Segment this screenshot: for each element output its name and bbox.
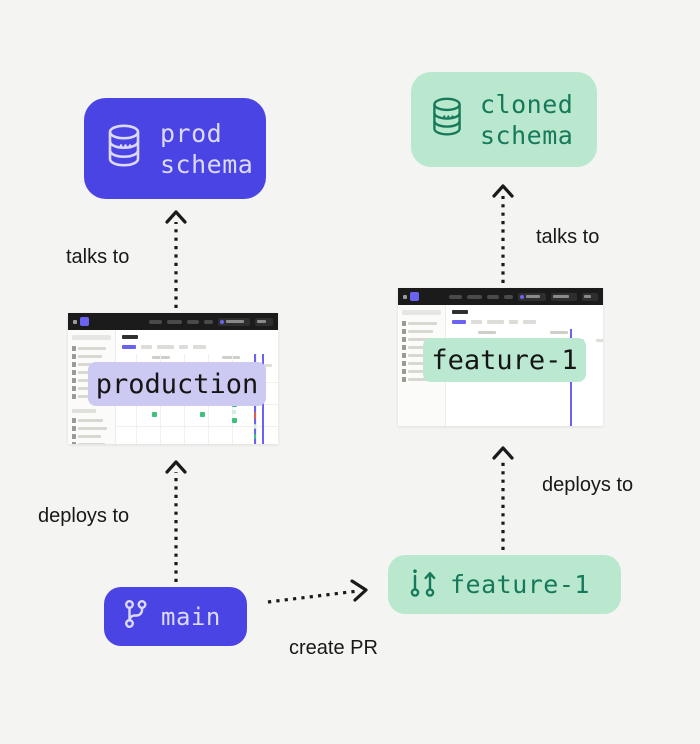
panel-title: [452, 310, 468, 314]
filter-icon: [72, 426, 76, 431]
filter-icon: [402, 353, 406, 358]
edge-label-deploys-to-left: deploys to: [38, 505, 129, 528]
filter-icon: [72, 442, 76, 444]
nav-item: [187, 320, 199, 324]
chip-feature-label: feature-1: [423, 338, 586, 382]
database-icon: [104, 123, 144, 174]
node-cloned-schema[interactable]: cloned schema: [411, 72, 597, 167]
tab-item: [157, 345, 174, 349]
group-header: [222, 356, 240, 359]
sidebar-item: [72, 426, 111, 431]
env-chip-label: [526, 295, 540, 298]
filter-icon: [72, 418, 76, 423]
edge-label-deploys-to-right: deploys to: [542, 474, 633, 497]
filter-icon: [72, 394, 76, 399]
screenshot-topbar: [398, 288, 603, 305]
env-chip: [218, 318, 250, 326]
nav-item: [149, 320, 162, 324]
env-chip-dot: [520, 295, 524, 299]
sidebar-item: [72, 434, 111, 439]
filter-icon: [402, 337, 406, 342]
chip-production-text: production: [96, 369, 259, 400]
tab-item: [509, 320, 518, 324]
topbar-left-group: [403, 292, 419, 301]
timeline-cell: [254, 424, 256, 429]
sidebar-section-label: [72, 409, 96, 413]
sidebar-item: [72, 354, 111, 359]
topbar-right-group: [449, 293, 598, 301]
node-main-branch-label: main: [161, 603, 221, 631]
node-cloned-schema-label-line2: schema: [480, 120, 573, 151]
filter-icon: [402, 329, 406, 334]
branch-chip-label: [553, 295, 569, 298]
node-main-branch[interactable]: main: [104, 587, 247, 646]
group-header: [152, 356, 170, 359]
user-chip: [582, 293, 598, 301]
filter-icon: [402, 321, 406, 326]
panel-tabs: [122, 345, 206, 349]
tab-item: [193, 345, 206, 349]
filter-icon: [402, 369, 406, 374]
database-icon: [429, 95, 465, 144]
edge-label-create-pr: create PR: [289, 637, 378, 660]
tab-item: [179, 345, 188, 349]
filter-icon: [402, 345, 406, 350]
sidebar-item: [72, 442, 111, 444]
timeline-cell: [232, 418, 237, 423]
arrow-main-to-feature-branch: [268, 581, 366, 602]
tab-item: [471, 320, 482, 324]
group-header: [478, 331, 496, 334]
sidebar-item: [402, 321, 441, 326]
nav-item: [204, 320, 213, 324]
node-cloned-schema-text: cloned schema: [480, 89, 573, 151]
sidebar-item-label: [78, 347, 106, 350]
tab-item: [122, 345, 136, 349]
timeline-cell: [200, 412, 205, 417]
branch-chip: [551, 293, 577, 301]
sidebar-item: [402, 329, 441, 334]
nav-item: [467, 295, 482, 299]
timeline-cell: [254, 434, 256, 439]
screenshot-topbar: [68, 313, 278, 330]
tab-item: [141, 345, 152, 349]
env-chip-label: [226, 320, 244, 323]
filter-icon: [72, 346, 76, 351]
node-prod-schema[interactable]: prod schema: [84, 98, 266, 199]
panel-tabs: [452, 320, 536, 324]
user-chip-label: [257, 320, 266, 323]
nav-item: [449, 295, 462, 299]
arrow-feature-branch-to-feature-screenshot: [494, 448, 512, 550]
node-prod-schema-text: prod schema: [160, 118, 253, 180]
sidebar-search: [402, 310, 441, 315]
chip-production-label: production: [88, 362, 266, 406]
edge-label-talks-to-left: talks to: [66, 246, 129, 269]
node-prod-schema-label-line1: prod: [160, 118, 253, 149]
sidebar-item: [72, 418, 111, 423]
tab-item: [523, 320, 536, 324]
env-chip-dot: [220, 320, 224, 324]
topbar-right-group: [149, 318, 273, 326]
sidebar-item-label: [78, 355, 102, 358]
tab-item: [452, 320, 466, 324]
workspace-avatar: [410, 292, 419, 301]
node-feature-branch[interactable]: feature-1: [388, 555, 621, 614]
arrow-feature-to-cloned-schema: [494, 186, 512, 283]
sidebar-item: [72, 346, 111, 351]
arrow-production-to-prod-schema: [167, 212, 185, 308]
user-chip: [255, 318, 273, 326]
sidebar-item-label: [78, 427, 107, 430]
node-cloned-schema-label-line1: cloned: [480, 89, 573, 120]
filter-icon: [72, 370, 76, 375]
git-branch-icon: [124, 599, 148, 634]
sidebar-item-label: [408, 322, 437, 325]
env-chip: [518, 293, 546, 301]
nav-item: [487, 295, 499, 299]
nav-item: [504, 295, 513, 299]
filter-icon: [72, 434, 76, 439]
sidebar-item-label: [78, 419, 103, 422]
group-header: [550, 331, 568, 334]
filter-icon: [72, 362, 76, 367]
nav-item: [167, 320, 182, 324]
menu-icon: [73, 320, 77, 324]
chip-feature-text: feature-1: [431, 345, 577, 376]
edge-label-talks-to-right: talks to: [536, 226, 599, 249]
panel-title: [122, 335, 138, 339]
filter-icon: [402, 377, 406, 382]
tab-item: [487, 320, 504, 324]
sidebar-item-label: [78, 443, 105, 444]
workspace-avatar: [80, 317, 89, 326]
filter-icon: [402, 361, 406, 366]
user-chip-label: [584, 295, 591, 298]
pull-request-icon: [410, 567, 436, 603]
topbar-left-group: [73, 317, 89, 326]
timeline-cell: [232, 410, 236, 414]
filter-icon: [72, 386, 76, 391]
filter-icon: [72, 378, 76, 383]
node-feature-branch-label: feature-1: [450, 570, 590, 599]
timeline-cell: [254, 412, 256, 419]
node-prod-schema-label-line2: schema: [160, 149, 253, 180]
timeline-cell: [152, 412, 157, 417]
sidebar-item-label: [78, 435, 101, 438]
sidebar-search: [72, 335, 111, 340]
sidebar-item-label: [408, 330, 433, 333]
filter-icon: [72, 354, 76, 359]
menu-icon: [403, 295, 407, 299]
axis-tick: [596, 339, 603, 342]
arrow-main-to-production: [167, 462, 185, 582]
